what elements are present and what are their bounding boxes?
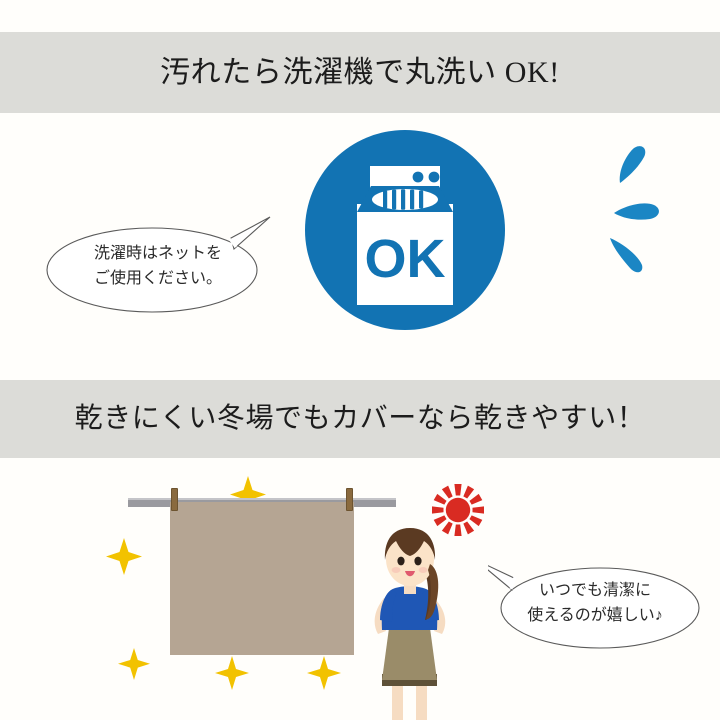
washing-machine-ok-icon: OK [305,130,505,330]
hanging-cover [170,502,354,655]
headline-band-washing: 汚れたら洗濯機で丸洗い OK! [0,32,720,113]
headline-band-drying: 乾きにくい冬場でもカバーなら乾きやすい！ [0,380,720,458]
splash-mark-bottom [610,238,642,272]
machine-knob-left [413,172,424,183]
machine-knob-right [429,172,440,183]
woman-illustration [358,524,478,720]
bubble-clean-line-1: いつでも清潔に [539,579,651,604]
speech-bubble-clean: いつでも清潔に 使えるのが嬉しい♪ [488,558,702,650]
bubble-net-line-2: ご使用ください。 [94,267,222,292]
right-eye [414,557,421,566]
left-cheek [392,567,401,573]
sun-core [446,498,470,522]
sparkle-star [307,656,341,690]
sparkle-star [118,648,150,680]
right-clothespin [346,488,353,511]
headline-drying: 乾きにくい冬場でもカバーなら乾きやすい！ [75,405,646,433]
bubble-clean-line-2: 使えるのが嬉しい♪ [527,604,663,629]
bubble-net-line-1: 洗濯時はネットを [94,242,222,267]
splash-mark-top [620,146,646,183]
speech-bubble-net-text: 洗濯時はネットを ご使用ください。 [44,216,272,314]
headline-washing: 汚れたら洗濯機で丸洗い OK! [160,58,560,88]
speech-bubble-net: 洗濯時はネットを ご使用ください。 [44,216,272,314]
sparkle-star [106,538,142,575]
product-feature-graphic: 汚れたら洗濯機で丸洗い OK! OK [0,0,720,720]
left-eye [397,557,404,566]
splash-mark-middle [614,203,659,219]
sparkle-star [215,656,249,690]
drying-section: いつでも清潔に 使えるのが嬉しい♪ [0,458,720,720]
blue-splash-marks [578,135,688,275]
speech-bubble-clean-text: いつでも清潔に 使えるのが嬉しい♪ [488,558,702,650]
right-cheek [419,567,428,573]
washing-section: OK 洗濯時はネットを ご使用ください。 [0,113,720,380]
skirt [382,628,437,680]
left-clothespin [171,488,178,511]
ok-text: OK [365,229,446,289]
